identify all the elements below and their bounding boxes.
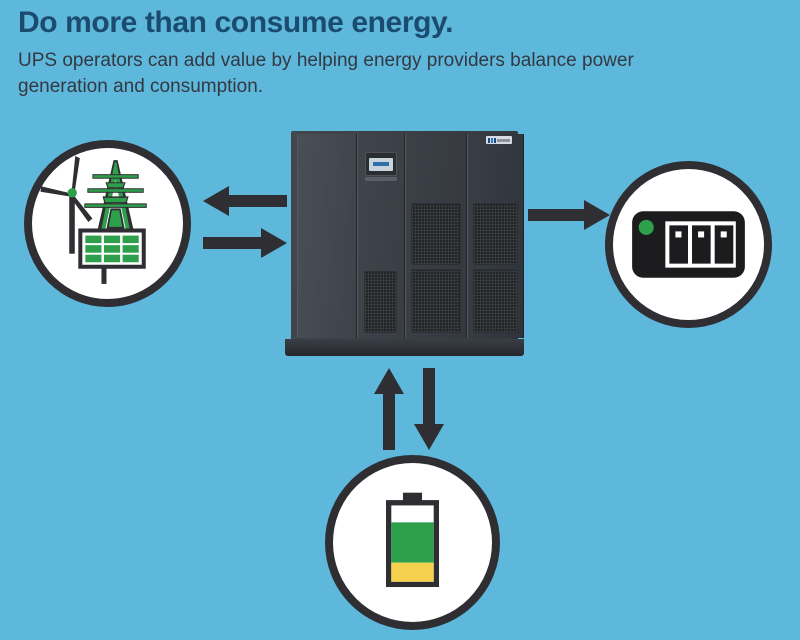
renewable-energy-icon	[32, 148, 183, 299]
arrow-battery-to-ups	[374, 368, 404, 450]
logo-mark-bar	[494, 138, 496, 143]
ups-body	[291, 131, 518, 341]
ups-vent-grille	[473, 203, 518, 265]
status-led-icon	[639, 220, 654, 235]
battery-node	[325, 455, 500, 630]
battery-reserve-level	[391, 563, 433, 582]
renewable-energy-node	[24, 140, 191, 307]
ups-cabinet	[285, 131, 524, 360]
arrow-ups-to-renewables	[203, 228, 287, 258]
logo-mark-bar	[491, 138, 493, 143]
ups-vent-grille	[411, 203, 461, 265]
header-text-block: Do more than consume energy. UPS operato…	[18, 0, 748, 100]
server-rack-icon	[613, 169, 764, 320]
datacenter-node	[605, 161, 772, 328]
solar-panel-icon	[78, 229, 145, 284]
infographic-stage: Do more than consume energy. UPS operato…	[0, 0, 800, 640]
arrow-ups-to-battery	[414, 368, 444, 450]
ups-vent-grille	[473, 269, 518, 333]
arrow-renewables-to-ups	[203, 186, 287, 216]
transmission-tower-icon	[84, 160, 146, 230]
ups-door-panel-1	[297, 134, 357, 338]
ups-plinth-base	[285, 339, 524, 356]
logo-wordmark	[497, 139, 510, 142]
ups-keypad[interactable]	[365, 177, 397, 181]
ups-lcd-display[interactable]	[365, 152, 397, 176]
battery-icon	[333, 463, 492, 622]
arrow-ups-to-datacenter	[528, 200, 610, 230]
ups-vent-grille	[364, 271, 397, 333]
battery-charge-level	[391, 522, 433, 562]
ups-lcd-screen	[369, 158, 393, 171]
logo-mark-bar	[488, 138, 490, 143]
ups-vent-grille	[411, 269, 461, 333]
brand-logo-icon	[486, 136, 512, 144]
page-title: Do more than consume energy.	[18, 0, 748, 39]
page-subtitle: UPS operators can add value by helping e…	[18, 39, 708, 100]
ups-lcd-content	[373, 162, 389, 166]
